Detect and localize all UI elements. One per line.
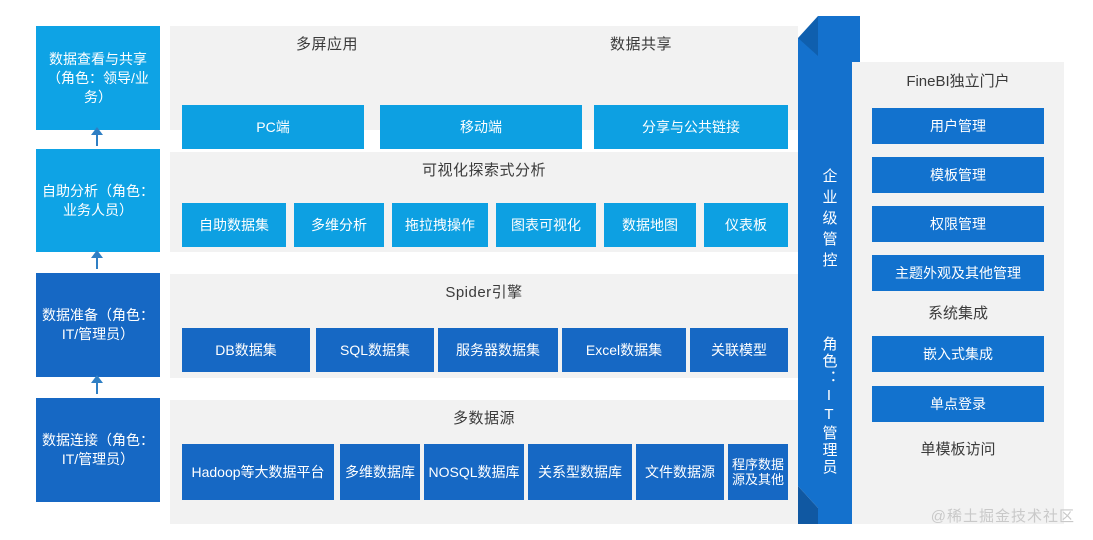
role-box-data-connection[interactable]: 数据连接（角色：IT/管理员）	[36, 398, 160, 502]
chip-label: 嵌入式集成	[923, 345, 993, 363]
chip-theme-appearance-management[interactable]: 主题外观及其他管理	[872, 255, 1044, 291]
chip-user-management[interactable]: 用户管理	[872, 108, 1044, 144]
chip-relation-model[interactable]: 关联模型	[690, 328, 788, 372]
chip-label: 多维分析	[311, 217, 367, 234]
chip-label: 主题外观及其他管理	[895, 264, 1021, 282]
chip-multidim-analysis[interactable]: 多维分析	[294, 203, 384, 247]
chip-label: Hadoop等大数据平台	[191, 464, 324, 481]
chip-label: 程序数据源及其他	[732, 457, 784, 487]
chip-self-service-dataset[interactable]: 自助数据集	[182, 203, 286, 247]
ribbon-subtitle-role-it-admin: 角色：IT管理员	[798, 316, 860, 496]
chip-label: 拖拉拽操作	[405, 217, 475, 234]
chip-label: 用户管理	[930, 117, 986, 135]
chip-label: PC端	[256, 119, 289, 136]
chip-sql-dataset[interactable]: SQL数据集	[316, 328, 434, 372]
chip-excel-dataset[interactable]: Excel数据集	[562, 328, 686, 372]
chip-label: 数据地图	[622, 217, 678, 234]
chip-label: 图表可视化	[511, 217, 581, 234]
chip-label: 仪表板	[725, 217, 767, 234]
chip-pc[interactable]: PC端	[182, 105, 364, 149]
layer-panel-application: 多屏应用 数据共享 PC端 移动端 分享与公共链接	[170, 26, 798, 130]
chip-nosql-database[interactable]: NOSQL数据库	[424, 444, 524, 500]
chip-permission-management[interactable]: 权限管理	[872, 206, 1044, 242]
layer-panel-analysis: 可视化探索式分析 自助数据集 多维分析 拖拉拽操作 图表可视化 数据地图 仪表板	[170, 152, 798, 252]
chip-file-datasource[interactable]: 文件数据源	[636, 444, 724, 500]
role-box-data-view-share[interactable]: 数据查看与共享（角色：领导/业务）	[36, 26, 160, 130]
role-box-self-service-analysis[interactable]: 自助分析（角色：业务人员）	[36, 149, 160, 252]
chip-multidim-database[interactable]: 多维数据库	[340, 444, 420, 500]
chip-hadoop-bigdata-platform[interactable]: Hadoop等大数据平台	[182, 444, 334, 500]
section-title-system-integration: 系统集成	[852, 304, 1064, 324]
chip-label: 多维数据库	[345, 464, 415, 481]
chip-server-dataset[interactable]: 服务器数据集	[438, 328, 558, 372]
chip-template-management[interactable]: 模板管理	[872, 157, 1044, 193]
chip-label: 关联模型	[711, 342, 767, 359]
chip-label: 分享与公共链接	[642, 119, 740, 136]
chip-share-public-link[interactable]: 分享与公共链接	[594, 105, 788, 149]
chip-single-sign-on[interactable]: 单点登录	[872, 386, 1044, 422]
management-panel: FineBI独立门户 用户管理 模板管理 权限管理 主题外观及其他管理 系统集成…	[852, 62, 1064, 524]
chip-label: 移动端	[460, 119, 502, 136]
connector-arrow-2	[91, 250, 103, 258]
watermark: @稀土掘金技术社区	[931, 505, 1075, 526]
chip-label: NOSQL数据库	[428, 464, 519, 481]
role-box-data-preparation[interactable]: 数据准备（角色：IT/管理员）	[36, 273, 160, 377]
layer-title-multi-datasource: 多数据源	[170, 409, 798, 429]
chip-label: 权限管理	[930, 215, 986, 233]
section-title-finebi-portal: FineBI独立门户	[852, 72, 1064, 92]
role-label: 数据查看与共享（角色：领导/业务）	[42, 50, 154, 107]
layer-panel-engine: Spider引擎 DB数据集 SQL数据集 服务器数据集 Excel数据集 关联…	[170, 274, 798, 378]
layer-title-multiscreen: 多屏应用	[170, 35, 484, 55]
section-title-single-template-access: 单模板访问	[852, 440, 1064, 460]
layer-title-datashare: 数据共享	[484, 35, 798, 55]
chip-label: 自助数据集	[199, 217, 269, 234]
chip-label: SQL数据集	[340, 342, 410, 359]
chip-label: Excel数据集	[586, 342, 662, 359]
role-label: 数据连接（角色：IT/管理员）	[42, 431, 154, 469]
ribbon-title-enterprise-governance: 企业级管控	[798, 168, 860, 277]
chip-db-dataset[interactable]: DB数据集	[182, 328, 310, 372]
layer-panel-datasource: 多数据源 Hadoop等大数据平台 多维数据库 NOSQL数据库 关系型数据库 …	[170, 400, 798, 524]
chip-data-map[interactable]: 数据地图	[604, 203, 696, 247]
chip-relational-database[interactable]: 关系型数据库	[528, 444, 632, 500]
chip-program-datasource-others[interactable]: 程序数据源及其他	[728, 444, 788, 500]
chip-drag-drop[interactable]: 拖拉拽操作	[392, 203, 488, 247]
layer-title-group-application: 多屏应用 数据共享	[170, 35, 798, 55]
chip-label: 单点登录	[930, 395, 986, 413]
connector-arrow-3	[91, 375, 103, 383]
chip-label: DB数据集	[215, 342, 276, 359]
chip-mobile[interactable]: 移动端	[380, 105, 582, 149]
role-label: 数据准备（角色：IT/管理员）	[42, 306, 154, 344]
chip-chart-visualization[interactable]: 图表可视化	[496, 203, 596, 247]
connector-arrow-1	[91, 127, 103, 135]
layer-title-visual-exploration: 可视化探索式分析	[170, 161, 798, 181]
layer-title-spider-engine: Spider引擎	[170, 283, 798, 303]
chip-label: 文件数据源	[645, 464, 715, 481]
chip-embedded-integration[interactable]: 嵌入式集成	[872, 336, 1044, 372]
enterprise-governance-ribbon: 企业级管控 角色：IT管理员	[798, 16, 860, 524]
chip-label: 关系型数据库	[538, 464, 622, 481]
role-label: 自助分析（角色：业务人员）	[42, 182, 154, 220]
chip-label: 模板管理	[930, 166, 986, 184]
chip-dashboard[interactable]: 仪表板	[704, 203, 788, 247]
chip-label: 服务器数据集	[456, 342, 540, 359]
